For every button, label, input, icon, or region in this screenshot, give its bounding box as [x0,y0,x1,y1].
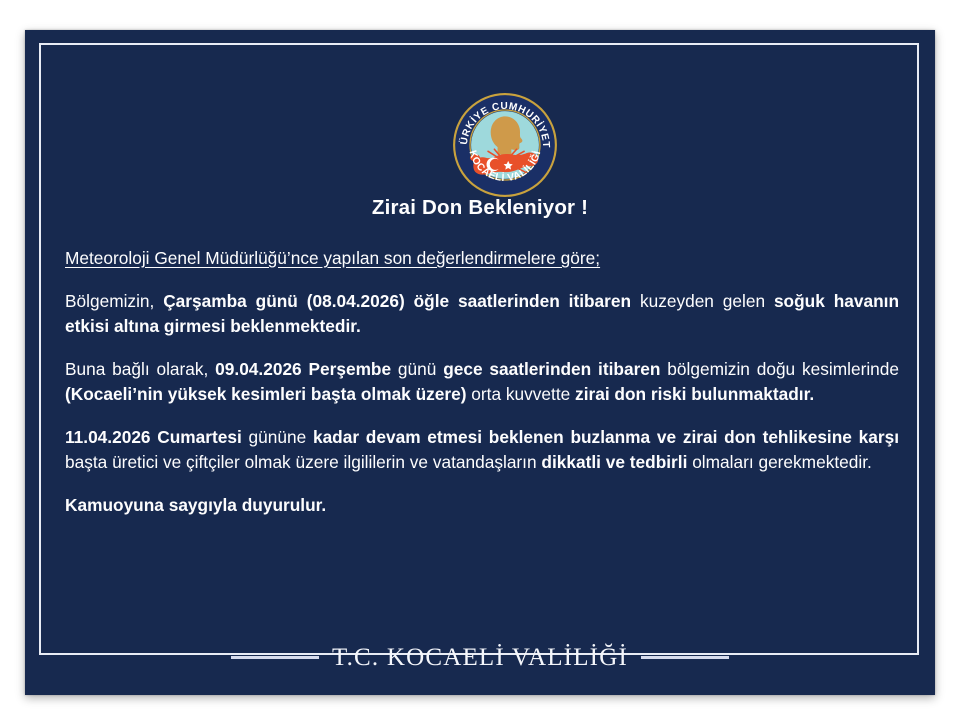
text-run: orta kuvvette [467,384,576,404]
text-run-bold: zirai don riski bulunmaktadır. [575,384,814,404]
kocaeli-valiligi-emblem-logo: TÜRKİYE CUMHURİYETİ KOCAELİ VALİLİĞİ [452,92,558,198]
text-run: kuzeyden gelen [631,291,774,311]
text-run-bold: Çarşamba günü (08.04.2026) öğle saatleri… [163,291,631,311]
text-run: başta üretici ve çiftçiler olmak üzere i… [65,452,541,472]
lead-line: Meteoroloji Genel Müdürlüğü’nce yapılan … [65,246,899,272]
poster-canvas: TÜRKİYE CUMHURİYETİ KOCAELİ VALİLİĞİ T.C… [0,0,960,720]
paragraph-4: Kamuoyuna saygıyla duyurulur. [65,493,899,519]
announcement-body: Meteoroloji Genel Müdürlüğü’nce yapılan … [65,246,899,518]
text-run-bold: gece saatlerinden itibaren [443,359,660,379]
text-run: olmaları gerekmektedir. [687,452,871,472]
text-run-bold: Kamuoyuna saygıyla duyurulur. [65,495,326,515]
text-run: Bölgemizin, [65,291,163,311]
footer-rule-right [641,656,729,659]
text-run-bold: 11.04.2026 Cumartesi [65,427,242,447]
text-run: Buna bağlı olarak, [65,359,215,379]
paragraph-2: Buna bağlı olarak, 09.04.2026 Perşembe g… [65,357,899,408]
footer-rule-left [231,656,319,659]
paragraph-1: Bölgemizin, Çarşamba günü (08.04.2026) ö… [65,289,899,340]
text-run: bölgemizin doğu kesimlerinde [660,359,899,379]
text-run-bold: (Kocaeli’nin yüksek kesimleri başta olma… [65,384,467,404]
footer-band: T.C. KOCAELİ VALİLİĞİ [25,640,935,674]
paragraph-3: 11.04.2026 Cumartesi gününe kadar devam … [65,425,899,476]
text-run: gününe [242,427,313,447]
page-title: Zirai Don Bekleniyor ! [0,196,960,220]
text-run-bold: kadar devam etmesi beklenen buzlanma ve … [313,427,899,447]
text-run: günü [391,359,443,379]
text-run-bold: dikkatli ve tedbirli [541,452,687,472]
text-run-bold: 09.04.2026 Perşembe [215,359,391,379]
footer-title: T.C. KOCAELİ VALİLİĞİ [319,645,641,670]
